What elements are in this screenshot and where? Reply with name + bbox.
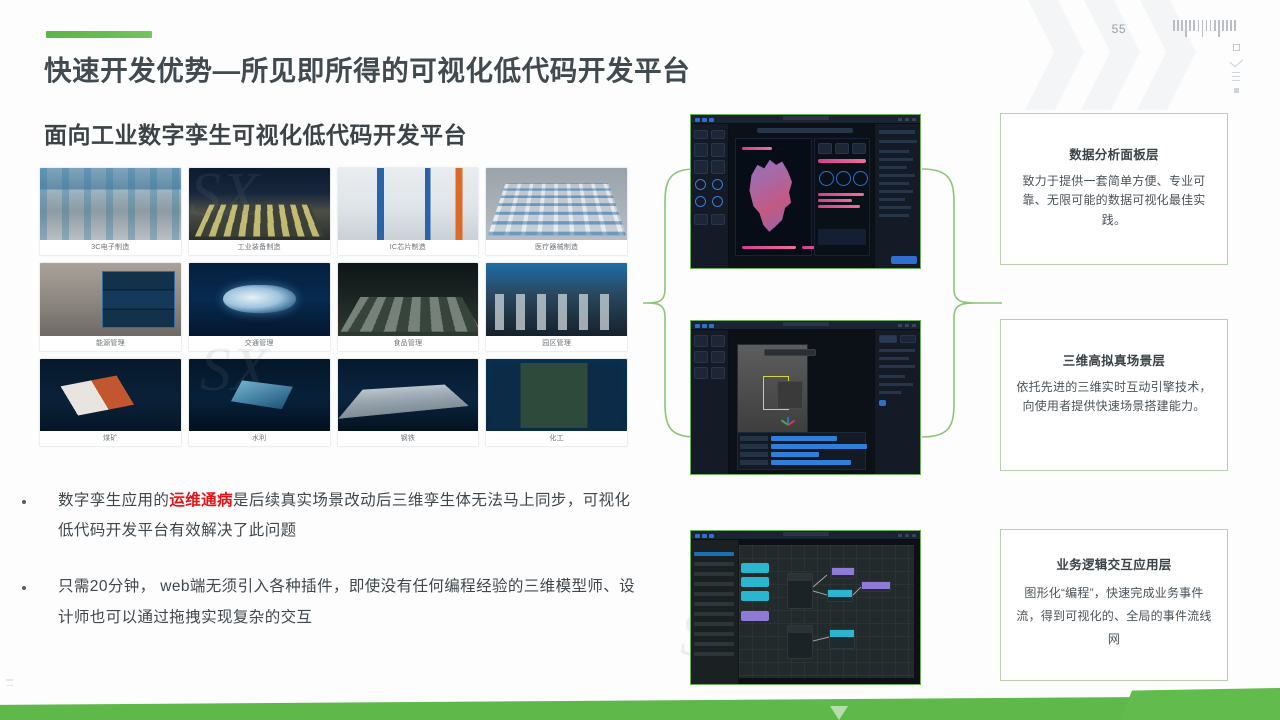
window-controls-icon xyxy=(898,534,916,537)
slide-canvas: 55 快速开发优势—所见即所得的可视化低代码开发平台 面向工业数字孪生可视化低代… xyxy=(0,0,1280,720)
info-card-data-panel-layer: 数据分析面板层 致力于提供一套简单方便、专业可靠、无限可能的数据可视化最佳实践。 xyxy=(1000,113,1228,265)
left-brace-connector xyxy=(617,163,697,443)
thumbnail-label: 能源管理 xyxy=(40,336,181,351)
title-accent-bar xyxy=(46,31,152,38)
info-card-body: 图形化“编程”，快速完成业务事件流，得到可视化的、全局的事件流线网 xyxy=(1013,582,1215,650)
thumbnail-card[interactable]: 交通管理 xyxy=(188,262,331,351)
band-right-segment xyxy=(1120,688,1280,720)
screenshot-data-dashboard[interactable] xyxy=(690,114,921,269)
thumbnail-label: 交通管理 xyxy=(189,336,330,351)
chevron-down-icon xyxy=(1229,56,1243,68)
thumbnail-image xyxy=(338,168,479,240)
right-brace-connector xyxy=(918,163,1004,443)
chevron-icon xyxy=(1022,0,1084,110)
thumbnail-card[interactable]: 水利 xyxy=(188,358,331,447)
info-card-3d-scene-layer: 三维高拟真场景层 依托先进的三维实时互动引擎技术，向使用者提供快速场景搭建能力。 xyxy=(1000,319,1228,471)
bullet-highlight: 运维通病 xyxy=(169,492,233,509)
info-card-body: 依托先进的三维实时互动引擎技术，向使用者提供快速场景搭建能力。 xyxy=(1013,378,1215,417)
thumbnail-label: 煤矿 xyxy=(40,431,181,446)
animation-timeline[interactable] xyxy=(737,432,866,470)
window-controls-icon xyxy=(898,118,916,121)
right-rail-decoration xyxy=(1228,44,1244,93)
inspector-panel[interactable] xyxy=(874,330,920,474)
band-left-segment xyxy=(0,697,1148,720)
thumbnail-image xyxy=(338,263,479,335)
bullet-text-pre: 数字孪生应用的 xyxy=(58,492,169,509)
thumbnail-image xyxy=(40,359,181,431)
thumbnail-card[interactable]: 园区管理 xyxy=(485,262,628,351)
china-map-shape xyxy=(747,153,797,239)
bullet-item: 数字孪生应用的运维通病是后续真实场景改动后三维孪生体无法马上同步，可视化低代码开… xyxy=(22,486,642,546)
bullet-list: 数字孪生应用的运维通病是后续真实场景改动后三维孪生体无法马上同步，可视化低代码开… xyxy=(22,486,642,659)
small-square-icon xyxy=(1234,88,1239,93)
window-dots-icon xyxy=(695,534,714,538)
thumbnail-card[interactable]: 医疗器械制造 xyxy=(485,167,628,256)
square-icon xyxy=(1233,44,1240,51)
thumbnail-image xyxy=(40,168,181,240)
info-card-title: 三维高拟真场景层 xyxy=(1013,350,1215,369)
window-controls-icon xyxy=(898,324,916,327)
thumbnail-label: 工业装备制造 xyxy=(189,240,330,255)
page-title: 快速开发优势—所见即所得的可视化低代码开发平台 xyxy=(44,48,690,88)
info-card-body: 致力于提供一套简单方便、专业可靠、无限可能的数据可视化最佳实践。 xyxy=(1013,172,1215,230)
thumbnail-card[interactable]: 食品管理 xyxy=(337,262,480,351)
app-titlebar xyxy=(691,115,920,124)
chevron-icon xyxy=(1134,0,1196,110)
axis-gizmo-icon xyxy=(781,411,795,425)
app-titlebar xyxy=(691,531,920,540)
window-dots-icon xyxy=(695,324,714,328)
thumbnail-image xyxy=(40,263,181,335)
china-map-widget xyxy=(735,138,812,256)
scene-hierarchy-panel[interactable] xyxy=(691,330,729,474)
thumbnail-label: 食品管理 xyxy=(338,336,479,351)
page-number: 55 xyxy=(1112,22,1126,36)
chevron-icon xyxy=(1078,0,1140,110)
thumbnail-label: 园区管理 xyxy=(486,336,627,351)
thumbnail-card[interactable]: 工业装备制造 xyxy=(188,167,331,256)
node-graph-canvas[interactable] xyxy=(739,545,914,678)
window-title-placeholder xyxy=(783,116,829,120)
thumbnail-label: 医疗器械制造 xyxy=(486,240,627,255)
thumbnail-card[interactable]: 钢铁 xyxy=(337,358,480,447)
thumbnail-card[interactable]: 能源管理 xyxy=(39,262,182,351)
thumbnail-card[interactable]: 煤矿 xyxy=(39,358,182,447)
thumbnail-card[interactable]: 3C电子制造 xyxy=(39,167,182,256)
3d-viewport[interactable] xyxy=(737,344,808,436)
window-title-placeholder xyxy=(783,532,829,536)
bottom-band xyxy=(0,688,1280,720)
viewport-area[interactable] xyxy=(729,330,874,474)
cube-object xyxy=(777,381,803,409)
node-wires xyxy=(739,545,914,678)
metrics-side-panel xyxy=(814,138,870,256)
page-subtitle: 面向工业数字孪生可视化低代码开发平台 xyxy=(44,116,467,150)
info-card-title: 业务逻辑交互应用层 xyxy=(1013,554,1215,573)
window-dots-icon xyxy=(695,118,714,122)
thumbnail-label: 3C电子制造 xyxy=(40,240,181,255)
thumbnail-image xyxy=(189,359,330,431)
bullet-text: 数字孪生应用的运维通病是后续真实场景改动后三维孪生体无法马上同步，可视化低代码开… xyxy=(58,486,642,546)
properties-panel[interactable] xyxy=(874,124,920,268)
bullet-text: 只需20分钟， web端无须引入各种插件，即使没有任何编程经验的三维模型师、设计… xyxy=(58,572,642,632)
thumbnail-card[interactable]: IC芯片制造 xyxy=(337,167,480,256)
app-titlebar xyxy=(691,321,920,330)
event-list-panel[interactable] xyxy=(691,540,739,684)
dashboard-canvas[interactable] xyxy=(729,124,874,268)
thumbnail-label: 化工 xyxy=(486,431,627,446)
thumbnail-label: 钢铁 xyxy=(338,431,479,446)
thumbnail-image xyxy=(338,359,479,431)
bullet-dot-icon xyxy=(22,586,26,590)
screenshot-node-editor[interactable] xyxy=(690,530,921,685)
thumbnail-image xyxy=(189,168,330,240)
thumbnail-image xyxy=(486,359,627,431)
left-dots-decoration xyxy=(6,679,13,686)
thumbnail-card[interactable]: 化工 xyxy=(485,358,628,447)
thumbnail-image xyxy=(486,263,627,335)
dash-marks-icon xyxy=(1232,72,1240,81)
bullet-item: 只需20分钟， web端无须引入各种插件，即使没有任何编程经验的三维模型师、设计… xyxy=(22,572,642,632)
thumbnail-image xyxy=(486,168,627,240)
info-card-title: 数据分析面板层 xyxy=(1013,144,1215,163)
thumbnail-label: 水利 xyxy=(189,431,330,446)
widget-palette-panel[interactable] xyxy=(691,124,729,268)
thumbnail-label: IC芯片制造 xyxy=(338,240,479,255)
screenshot-3d-editor[interactable] xyxy=(690,320,921,475)
thumbnail-image xyxy=(189,263,330,335)
bullet-dot-icon xyxy=(22,500,26,504)
window-title-placeholder xyxy=(783,322,829,326)
industry-thumbnail-grid: 3C电子制造 工业装备制造 IC芯片制造 医疗器械制造 能源管理 交通管理 食品… xyxy=(39,167,628,447)
info-card-business-logic-layer: 业务逻辑交互应用层 图形化“编程”，快速完成业务事件流，得到可视化的、全局的事件… xyxy=(1000,529,1228,681)
tick-ruler-decoration xyxy=(1173,20,1236,38)
